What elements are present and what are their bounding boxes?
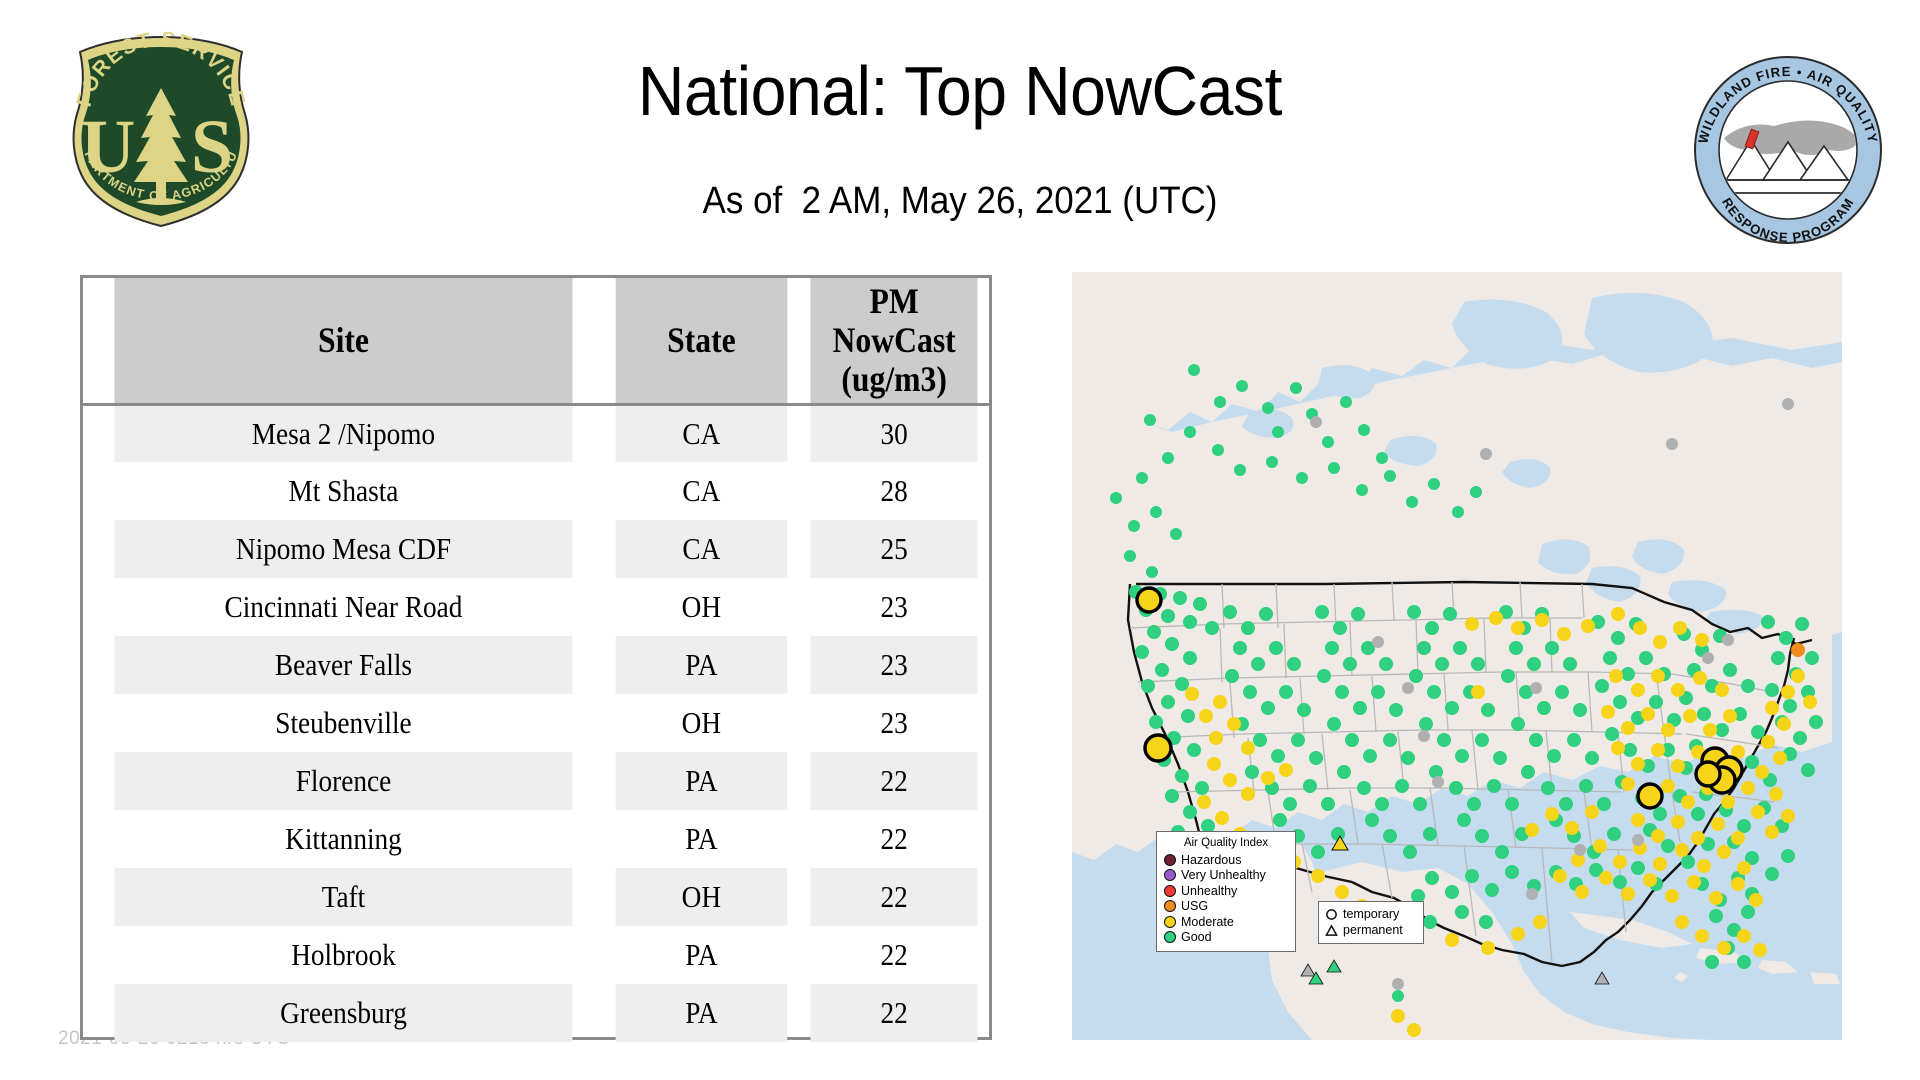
cell-site: Mt Shasta (114, 462, 572, 520)
aqi-label-unhealthy: Unhealthy (1181, 885, 1237, 898)
table-row: Steubenville OH 23 (83, 694, 989, 752)
highlight-nipomo-cluster (1145, 735, 1171, 761)
highlight-pa-cluster-4 (1696, 762, 1720, 786)
cell-pm: 22 (810, 868, 977, 926)
slide-root: 2021-05-26 0215 hrs UTC FOREST SERVICE D… (0, 0, 1920, 1080)
aqi-legend-title: Air Quality Index (1164, 837, 1288, 849)
cell-state: PA (616, 810, 787, 868)
legend-item-permanent: permanent (1325, 922, 1417, 938)
table-row: Florence PA 22 (83, 752, 989, 810)
cell-state: CA (616, 404, 787, 462)
table-row: Nipomo Mesa CDF CA 25 (83, 520, 989, 578)
page-subtitle: As of 2 AM, May 26, 2021 (UTC) (353, 180, 1567, 223)
aqi-label-very-unhealthy: Very Unhealthy (1181, 869, 1266, 882)
circle-icon (1325, 908, 1338, 921)
cell-site: Florence (114, 752, 572, 810)
cell-site: Kittanning (114, 810, 572, 868)
pm-header-line-3: (ug/m3) (812, 360, 976, 399)
cell-site: Steubenville (114, 694, 572, 752)
table-row: Mt Shasta CA 28 (83, 462, 989, 520)
cell-pm: 22 (810, 926, 977, 984)
aqi-swatch-hazardous (1164, 854, 1176, 866)
cell-pm: 25 (810, 520, 977, 578)
legend-item-temporary: temporary (1325, 906, 1417, 922)
monitor-dots-usg (1791, 643, 1805, 657)
cell-site: Holbrook (114, 926, 572, 984)
cell-state: OH (616, 868, 787, 926)
highlight-mt-shasta (1137, 588, 1161, 612)
cell-site: Cincinnati Near Road (114, 578, 572, 636)
cell-pm: 22 (810, 810, 977, 868)
aqi-swatch-unhealthy (1164, 885, 1176, 897)
table-row: Beaver Falls PA 23 (83, 636, 989, 694)
pm-header-line-1: PM (812, 282, 976, 321)
cell-state: PA (616, 926, 787, 984)
top-nowcast-table: Site State PM NowCast (ug/m3) Mesa 2 /Ni… (80, 275, 992, 1040)
cell-pm: 23 (810, 636, 977, 694)
aqi-legend: Air Quality Index Hazardous Very Unhealt… (1156, 831, 1296, 952)
cell-site: Taft (114, 868, 572, 926)
legend-label-permanent: permanent (1343, 923, 1403, 937)
cell-pm: 22 (810, 984, 977, 1042)
column-header-site: Site (114, 278, 572, 404)
aqi-legend-item-very-unhealthy: Very Unhealthy (1164, 868, 1288, 884)
table-row: Holbrook PA 22 (83, 926, 989, 984)
aqi-legend-item-unhealthy: Unhealthy (1164, 883, 1288, 899)
column-header-pm-nowcast: PM NowCast (ug/m3) (810, 278, 977, 404)
table-row: Taft OH 22 (83, 868, 989, 926)
aqi-swatch-good (1164, 931, 1176, 943)
cell-state: OH (616, 578, 787, 636)
cell-state: CA (616, 520, 787, 578)
column-header-state: State (616, 278, 787, 404)
aqi-swatch-moderate (1164, 916, 1176, 928)
cell-site: Nipomo Mesa CDF (114, 520, 572, 578)
wfaqrp-logo: WILDLAND FIRE • AIR QUALITY RESPONSE PRO… (1688, 50, 1888, 250)
table-row: Kittanning PA 22 (83, 810, 989, 868)
aqi-label-good: Good (1181, 931, 1212, 944)
air-quality-map[interactable]: Air Quality Index Hazardous Very Unhealt… (1072, 272, 1842, 1040)
aqi-legend-item-hazardous: Hazardous (1164, 852, 1288, 868)
aqi-legend-item-usg: USG (1164, 899, 1288, 915)
aqi-legend-item-good: Good (1164, 930, 1288, 946)
cell-state: OH (616, 694, 787, 752)
cell-state: CA (616, 462, 787, 520)
aqi-swatch-very-unhealthy (1164, 869, 1176, 881)
aqi-label-moderate: Moderate (1181, 916, 1234, 929)
table-row: Greensburg PA 22 (83, 984, 989, 1042)
aqi-legend-item-moderate: Moderate (1164, 914, 1288, 930)
cell-pm: 28 (810, 462, 977, 520)
table-header-row: Site State PM NowCast (ug/m3) (83, 278, 989, 404)
cell-state: PA (616, 984, 787, 1042)
forest-service-logo: FOREST SERVICE DEPARTMENT OF AGRICULTURE… (56, 30, 266, 230)
triangle-icon (1325, 924, 1338, 937)
cell-site: Greensburg (114, 984, 572, 1042)
cell-pm: 22 (810, 752, 977, 810)
cell-pm: 23 (810, 578, 977, 636)
aqi-label-hazardous: Hazardous (1181, 854, 1241, 867)
fs-letter-u: U (81, 105, 136, 189)
cell-pm: 23 (810, 694, 977, 752)
pm-header-line-2: NowCast (812, 321, 976, 360)
aqi-swatch-usg (1164, 900, 1176, 912)
aqi-label-usg: USG (1181, 900, 1208, 913)
page-title: National: Top NowCast (353, 55, 1567, 129)
cell-pm: 30 (810, 404, 977, 462)
cell-state: PA (616, 636, 787, 694)
table-row: Cincinnati Near Road OH 23 (83, 578, 989, 636)
cell-site: Beaver Falls (114, 636, 572, 694)
monitor-type-legend: temporary permanent (1318, 901, 1424, 944)
cell-site: Mesa 2 /Nipomo (114, 404, 572, 462)
highlight-cincinnati-near-road (1638, 784, 1662, 808)
legend-label-temporary: temporary (1343, 907, 1399, 921)
fs-letter-s: S (191, 105, 233, 189)
table-row: Mesa 2 /Nipomo CA 30 (83, 404, 989, 462)
cell-state: PA (616, 752, 787, 810)
